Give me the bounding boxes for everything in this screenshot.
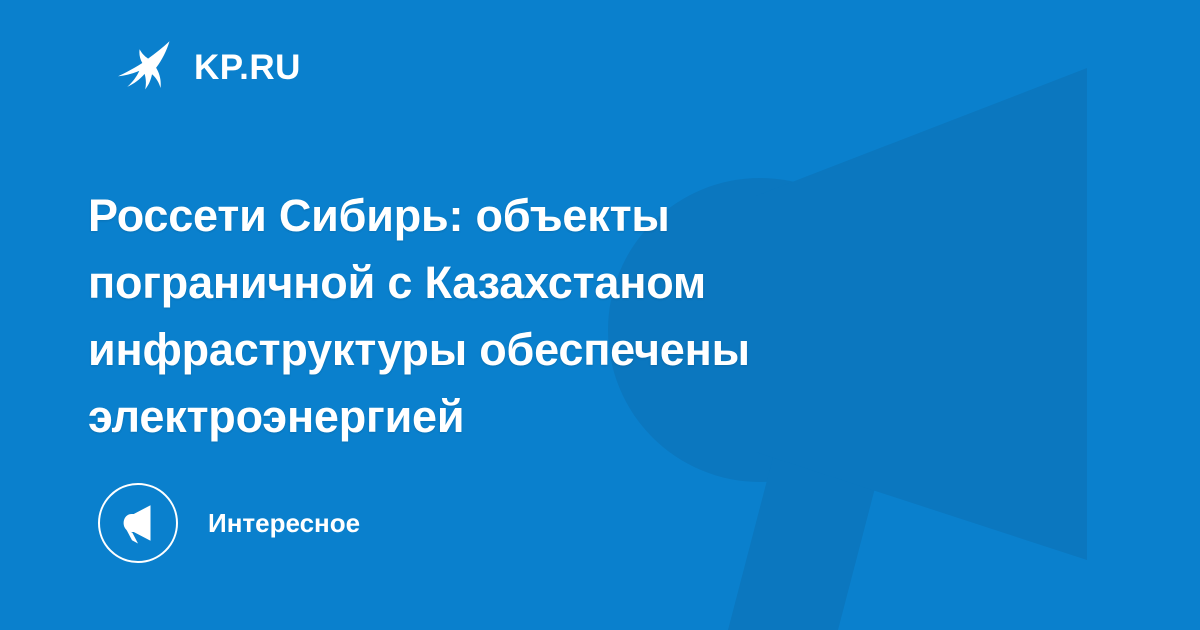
- headline-line: Россети Сибирь: объекты: [88, 182, 988, 249]
- megaphone-icon: [117, 502, 159, 544]
- brand-lockup[interactable]: KP.RU: [108, 34, 301, 100]
- page-title: Россети Сибирь: объекты пограничной с Ка…: [88, 182, 988, 450]
- swallow-bird-icon: [108, 35, 172, 99]
- rubric-label: Интересное: [208, 510, 360, 536]
- social-share-card: KP.RU Россети Сибирь: объекты погранично…: [0, 0, 1200, 630]
- headline-line: пограничной с Казахстаном: [88, 249, 988, 316]
- rubric-icon-circle: [98, 483, 178, 563]
- headline-line: электроэнергией: [88, 383, 988, 450]
- brand-name: KP.RU: [194, 50, 301, 85]
- rubric-badge[interactable]: Интересное: [98, 483, 360, 563]
- headline-line: инфраструктуры обеспечены: [88, 316, 988, 383]
